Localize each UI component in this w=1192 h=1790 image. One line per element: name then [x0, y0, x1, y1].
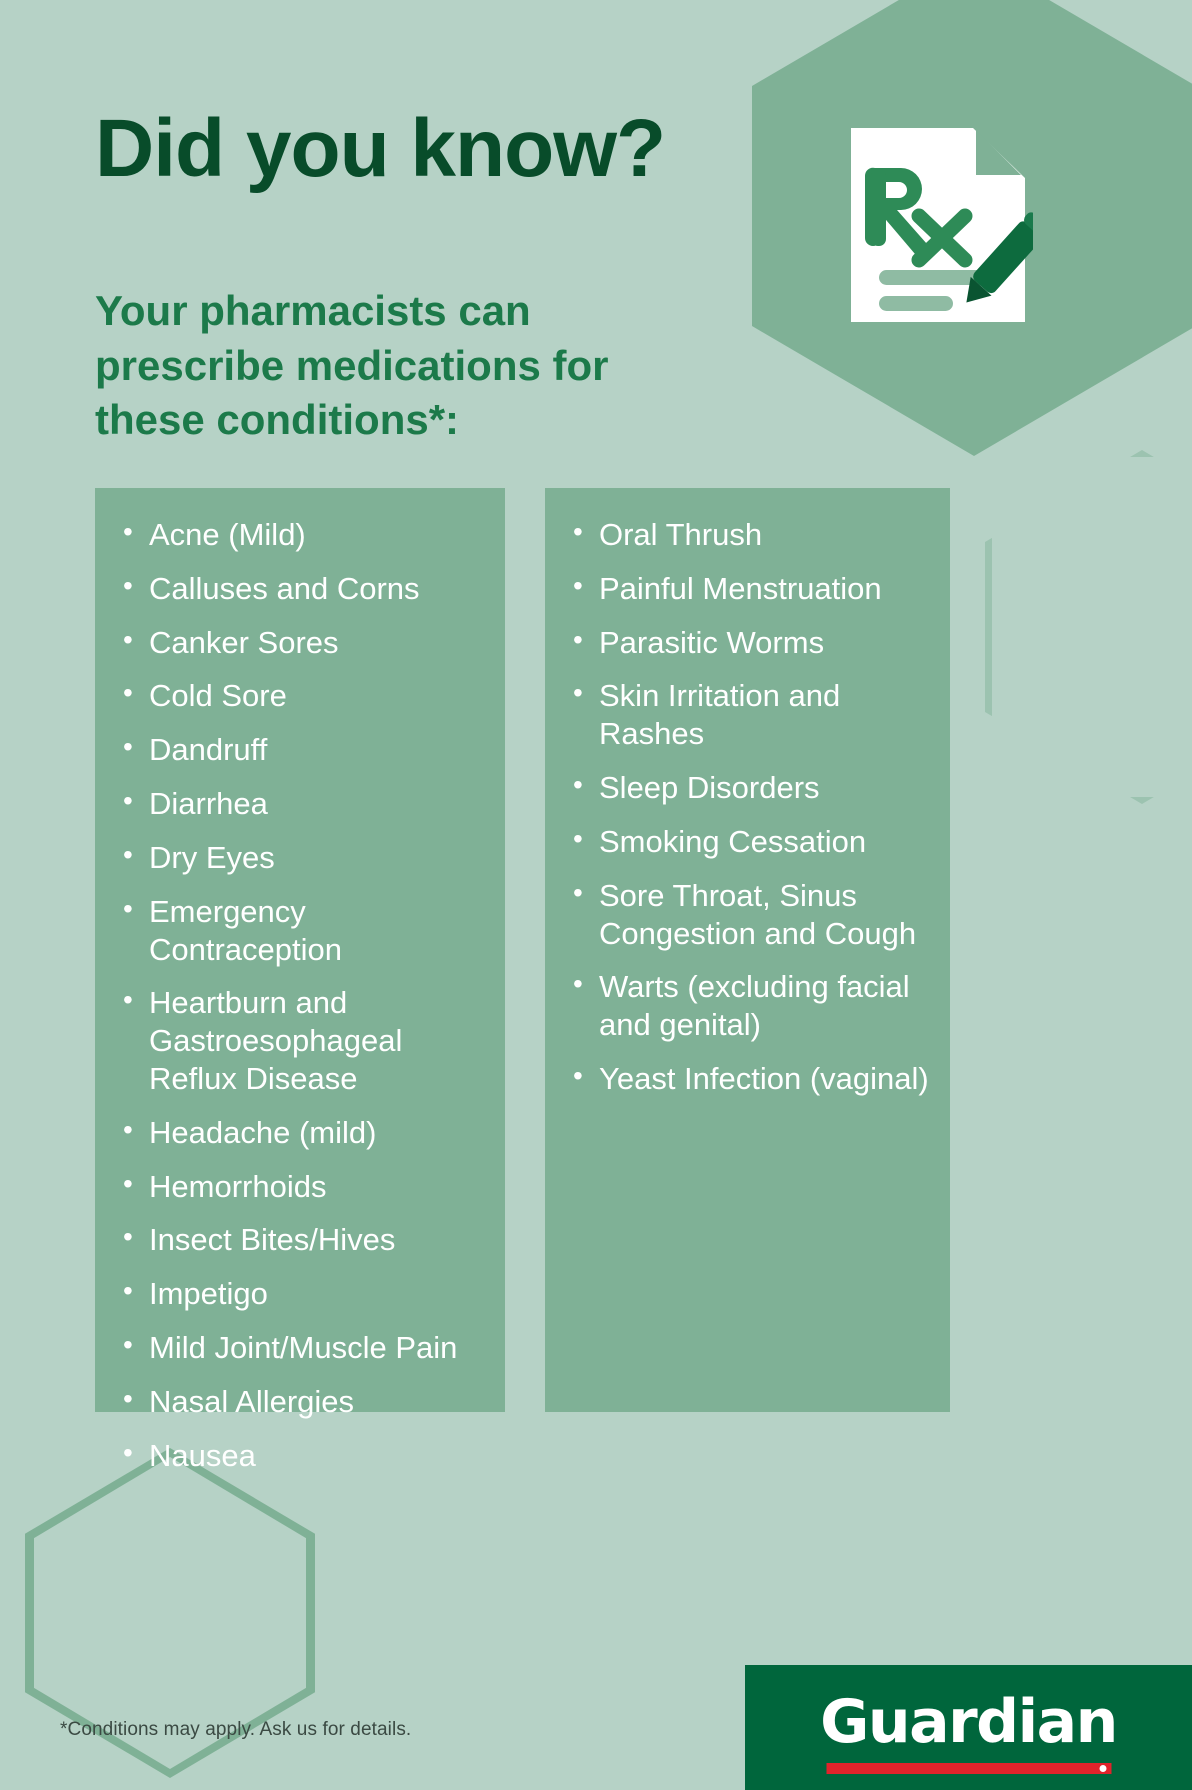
page-title: Did you know? — [95, 108, 665, 190]
guardian-logo-wordmark: Guardian — [820, 1687, 1117, 1757]
condition-list-item: Painful Menstruation — [563, 570, 932, 608]
condition-list-item: Skin Irritation and Rashes — [563, 677, 932, 753]
page-subtitle: Your pharmacists can prescribe medicatio… — [95, 284, 635, 448]
condition-list-item: Dry Eyes — [113, 839, 487, 877]
condition-list-item: Parasitic Worms — [563, 624, 932, 662]
prescription-document-icon — [843, 120, 1033, 330]
condition-list-item: Calluses and Corns — [113, 570, 487, 608]
condition-list-item: Sore Throat, Sinus Congestion and Cough — [563, 877, 932, 953]
condition-list-item: Sleep Disorders — [563, 769, 932, 807]
condition-list-item: Dandruff — [113, 731, 487, 769]
conditions-list-left: Acne (Mild)Calluses and CornsCanker Sore… — [113, 516, 487, 1474]
hexagon-decoration-right — [985, 450, 1192, 804]
conditions-panel-right: Oral ThrushPainful MenstruationParasitic… — [545, 488, 950, 1412]
condition-list-item: Smoking Cessation — [563, 823, 932, 861]
condition-list-item: Headache (mild) — [113, 1114, 487, 1152]
condition-list-item: Warts (excluding facial and genital) — [563, 968, 932, 1044]
condition-list-item: Yeast Infection (vaginal) — [563, 1060, 932, 1098]
condition-list-item: Mild Joint/Muscle Pain — [113, 1329, 487, 1367]
conditions-panel-left: Acne (Mild)Calluses and CornsCanker Sore… — [95, 488, 505, 1412]
condition-list-item: Acne (Mild) — [113, 516, 487, 554]
disclaimer-text: *Conditions may apply. Ask us for detail… — [60, 1719, 411, 1741]
condition-list-item: Impetigo — [113, 1275, 487, 1313]
condition-list-item: Diarrhea — [113, 785, 487, 823]
condition-list-item: Insect Bites/Hives — [113, 1221, 487, 1259]
guardian-logo-red-bar — [826, 1763, 1111, 1774]
condition-list-item: Canker Sores — [113, 624, 487, 662]
condition-list-item: Oral Thrush — [563, 516, 932, 554]
condition-list-item: Hemorrhoids — [113, 1168, 487, 1206]
conditions-list-right: Oral ThrushPainful MenstruationParasitic… — [563, 516, 932, 1098]
condition-list-item: Heartburn and Gastroesophageal Reflux Di… — [113, 984, 487, 1097]
guardian-logo: Guardian — [745, 1665, 1192, 1790]
condition-list-item: Nausea — [113, 1437, 487, 1475]
condition-list-item: Cold Sore — [113, 677, 487, 715]
condition-list-item: Emergency Contraception — [113, 893, 487, 969]
condition-list-item: Nasal Allergies — [113, 1383, 487, 1421]
